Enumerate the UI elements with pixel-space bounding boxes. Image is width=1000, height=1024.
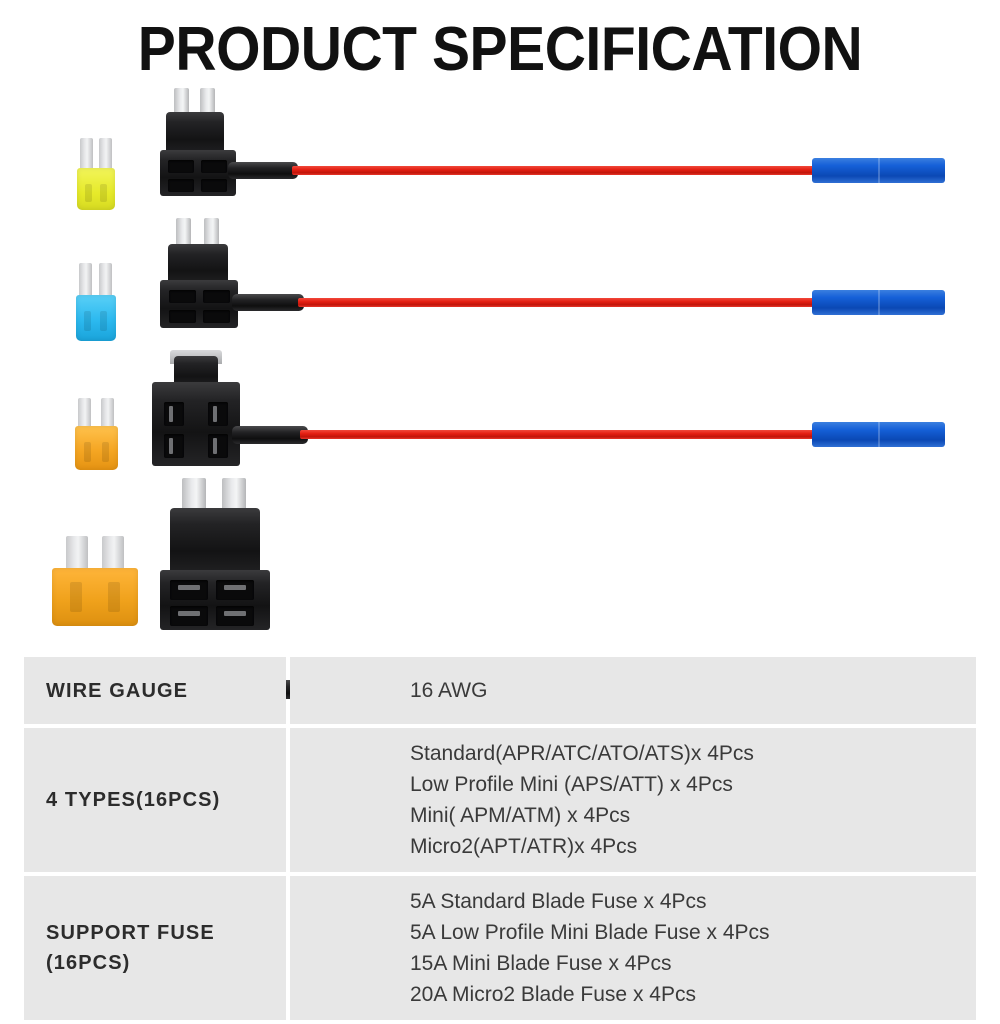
red-wire: [298, 298, 820, 307]
fuse-body: [76, 295, 116, 341]
page-title: PRODUCT SPECIFICATION: [40, 18, 960, 82]
product-row-mini: [0, 348, 1000, 478]
spec-value-line: Low Profile Mini (APS/ATT) x 4Pcs: [410, 769, 976, 800]
holder-slot: [208, 434, 228, 458]
holder-contact: [169, 406, 173, 422]
fuse-element-slot: [85, 184, 92, 202]
fuse-element-slot: [100, 311, 107, 331]
fuse-element-slot: [102, 442, 109, 462]
fuse-element-slot: [84, 311, 91, 331]
fuse-body: [77, 168, 115, 210]
spec-label-line: (16PCS): [46, 948, 286, 978]
holder-contact: [178, 611, 200, 616]
holder-slot: [169, 290, 196, 303]
holder-contact: [213, 406, 217, 422]
holder-slot: [170, 580, 208, 600]
spec-value-line: 16 AWG: [410, 675, 976, 706]
spec-value-line: Standard(APR/ATC/ATO/ATS)x 4Pcs: [410, 738, 976, 769]
fuse-element-slot: [108, 582, 120, 612]
fuse-body: [52, 568, 138, 626]
cable-sleeve: [232, 294, 304, 311]
spec-value-line: 5A Standard Blade Fuse x 4Pcs: [410, 886, 976, 917]
fuse-standard-orange: [52, 536, 138, 626]
holder-slot: [216, 580, 254, 600]
holder-slot: [168, 160, 194, 173]
spec-label-types: 4 TYPES(16PCS): [24, 728, 286, 872]
table-row: SUPPORT FUSE (16PCS) 5A Standard Blade F…: [24, 876, 976, 1020]
table-row: 4 TYPES(16PCS) Standard(APR/ATC/ATO/ATS)…: [24, 728, 976, 872]
fuse-element-slot: [84, 442, 91, 462]
connector-seam: [878, 290, 880, 315]
spec-label-wire-gauge: WIRE GAUGE: [24, 657, 286, 724]
spec-label-support-fuse: SUPPORT FUSE (16PCS): [24, 876, 286, 1020]
spec-value-line: Micro2(APT/ATR)x 4Pcs: [410, 831, 976, 862]
fuse-micro2-yellow: [74, 138, 118, 210]
holder-contact: [213, 438, 217, 454]
blue-butt-connector: [812, 158, 945, 183]
holder-slot: [203, 310, 230, 323]
fuse-body: [75, 426, 118, 470]
spec-value-line: Mini( APM/ATM) x 4Pcs: [410, 800, 976, 831]
red-wire: [292, 166, 820, 175]
spec-value-line: 15A Mini Blade Fuse x 4Pcs: [410, 948, 976, 979]
cable-sleeve: [232, 426, 308, 444]
table-row: WIRE GAUGE 16 AWG: [24, 657, 976, 724]
holder-slot: [208, 402, 228, 426]
spec-value-types: Standard(APR/ATC/ATO/ATS)x 4Pcs Low Prof…: [290, 728, 976, 872]
product-row-standard: [0, 478, 1000, 648]
specification-table: WIRE GAUGE 16 AWG 4 TYPES(16PCS) Standar…: [20, 653, 980, 1024]
holder-slot: [170, 606, 208, 626]
fuse-element-slot: [100, 184, 107, 202]
holder-slot: [169, 310, 196, 323]
holder-slot: [201, 160, 227, 173]
product-image: [0, 88, 1000, 648]
fuse-element-slot: [70, 582, 82, 612]
holder-contact: [169, 438, 173, 454]
product-row-micro2: [0, 88, 1000, 218]
holder-slot: [164, 434, 184, 458]
cable-sleeve: [228, 162, 298, 179]
fuse-tap-holder-micro2: [160, 88, 270, 196]
holder-slot: [164, 402, 184, 426]
connector-seam: [878, 422, 880, 447]
spec-label-line: SUPPORT FUSE: [46, 918, 286, 948]
spec-value-wire-gauge: 16 AWG: [290, 657, 976, 724]
fuse-tap-holder-mini: [152, 348, 270, 466]
holder-contact: [224, 611, 246, 616]
holder-slot: [201, 179, 227, 192]
spec-value-support-fuse: 5A Standard Blade Fuse x 4Pcs 5A Low Pro…: [290, 876, 976, 1020]
fuse-low-profile-mini-blue: [74, 263, 118, 341]
product-row-low-profile-mini: [0, 218, 1000, 348]
holder-slot: [216, 606, 254, 626]
fuse-tap-holder-standard: [160, 478, 310, 630]
fuse-tap-holder-low-profile-mini: [160, 218, 275, 328]
red-wire: [300, 430, 820, 439]
blue-butt-connector: [812, 422, 945, 447]
spec-value-line: 20A Micro2 Blade Fuse x 4Pcs: [410, 979, 976, 1010]
connector-seam: [878, 158, 880, 183]
spec-value-line: 5A Low Profile Mini Blade Fuse x 4Pcs: [410, 917, 976, 948]
fuse-mini-orange: [74, 398, 120, 470]
holder-contact: [224, 585, 246, 590]
holder-slot: [203, 290, 230, 303]
holder-contact: [178, 585, 200, 590]
holder-slot: [168, 179, 194, 192]
blue-butt-connector: [812, 290, 945, 315]
